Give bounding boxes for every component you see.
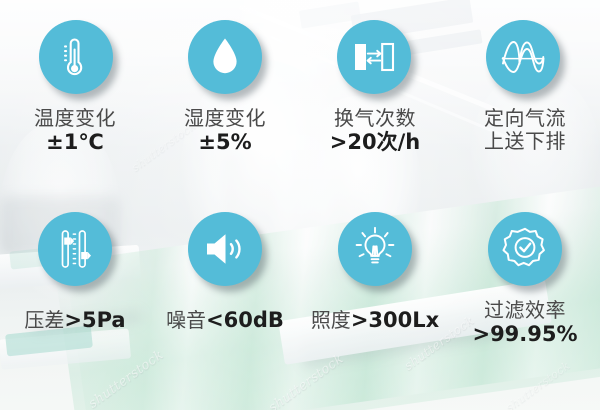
parameter-value: ±1℃ (34, 130, 116, 154)
light-bulb-icon (352, 226, 398, 272)
infographic-poster: shutterstock shutterstock shutterstock s… (0, 0, 600, 410)
speaker-icon-badge (188, 212, 262, 286)
airflow-wave-icon (500, 38, 546, 76)
parameter-tile-airflow: 定向气流 上送下排 (450, 20, 600, 208)
certified-badge-icon (502, 226, 548, 272)
parameter-caption-filter-efficiency: 过滤效率 >99.95% (472, 299, 577, 347)
parameter-label: 湿度变化 (184, 107, 266, 130)
parameter-tile-noise: 噪音<60dB (150, 208, 300, 398)
parameter-caption-illuminance: 照度>300Lx (311, 308, 439, 332)
light-bulb-icon-badge (338, 212, 412, 286)
parameter-value: 噪音<60dB (166, 308, 284, 332)
parameter-label: 噪音 (166, 308, 206, 332)
parameter-value: 照度>300Lx (311, 308, 439, 332)
parameter-caption-airflow: 定向气流 上送下排 (484, 107, 566, 153)
air-exchange-icon-badge (337, 20, 411, 94)
speaker-icon (203, 229, 247, 269)
parameter-label: 过滤效率 (472, 299, 577, 322)
parameter-caption-air-changes: 换气次数 >20次/h (330, 107, 420, 155)
parameter-tile-air-changes: 换气次数 >20次/h (300, 20, 450, 208)
certified-badge-icon-badge (488, 212, 562, 286)
parameter-value: 压差>5Pa (24, 308, 125, 332)
parameter-caption-pressure: 压差>5Pa (24, 308, 125, 332)
parameter-value-number: <60dB (206, 308, 284, 332)
pressure-slider-icon (55, 227, 95, 271)
parameter-caption-temperature: 温度变化 ±1℃ (34, 107, 116, 155)
thermometer-icon (56, 35, 96, 79)
parameter-tile-humidity: 湿度变化 ±5% (150, 20, 300, 208)
parameter-value: >20次/h (330, 130, 420, 154)
parameter-label: 压差 (24, 308, 64, 332)
parameter-value-number: >300Lx (351, 308, 439, 332)
parameter-value: ±5% (184, 130, 266, 154)
parameter-label: 温度变化 (34, 107, 116, 130)
water-drop-icon (208, 35, 242, 79)
parameter-label: 照度 (311, 308, 351, 332)
parameter-label: 换气次数 (330, 107, 420, 130)
parameter-tile-illuminance: 照度>300Lx (300, 208, 450, 398)
parameter-value: 上送下排 (484, 130, 566, 153)
parameter-tile-pressure: 压差>5Pa (0, 208, 150, 398)
parameter-label: 定向气流 (484, 107, 566, 130)
pressure-slider-icon-badge (38, 212, 112, 286)
parameter-value-number: >5Pa (64, 308, 125, 332)
parameter-tile-filter-efficiency: 过滤效率 >99.95% (450, 208, 600, 398)
parameter-grid: 温度变化 ±1℃ 湿度变化 ±5% (0, 0, 600, 410)
parameter-tile-temperature: 温度变化 ±1℃ (0, 20, 150, 208)
parameter-caption-noise: 噪音<60dB (166, 308, 284, 332)
thermometer-icon-badge (39, 20, 113, 94)
water-drop-icon-badge (188, 20, 262, 94)
air-exchange-icon (351, 37, 397, 77)
airflow-wave-icon-badge (486, 20, 560, 94)
parameter-caption-humidity: 湿度变化 ±5% (184, 107, 266, 155)
parameter-value: >99.95% (472, 322, 577, 346)
